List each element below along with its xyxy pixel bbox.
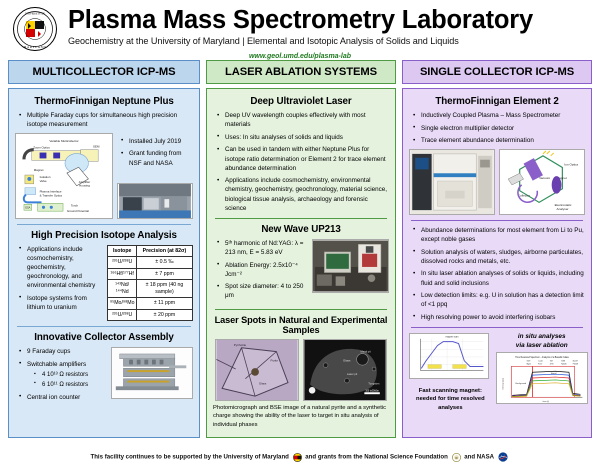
svg-text:Mg25: Mg25 [526, 364, 531, 366]
table-row: ²³⁵U/²³⁸U± 20 ppm [108, 309, 193, 321]
svg-text:Zr90: Zr90 [549, 363, 553, 366]
svg-text:Magnet: Magnet [34, 168, 44, 172]
up213-laser-system-photo [312, 239, 389, 293]
list-item: 9 Faraday cups [18, 347, 107, 356]
list-item: Trace element abundance determination [412, 136, 585, 145]
collector-bullets: 9 Faraday cups Switchable amplifiers 4 1… [18, 347, 107, 405]
svg-text:Tungsten: Tungsten [368, 382, 380, 386]
svg-text:Ion Optics: Ion Optics [564, 162, 578, 166]
deep-uv-bullets: Deep UV wavelength couples effectively w… [216, 111, 389, 213]
bse-image-synthetic-charge: Glass Metal pit Laser pit Tungsten 100 \… [303, 339, 387, 401]
svg-text:SEM: SEM [93, 144, 100, 148]
list-item: Inductively Coupled Plasma – Mass Spectr… [412, 111, 585, 120]
list-item: Abundance determinations for most elemen… [412, 226, 585, 244]
photomicrograph-natural-pyrite: Pyrrhotite Pyrite Glass [215, 339, 299, 401]
svg-text:N: N [455, 455, 457, 459]
neptune-side-bullets: Installed July 2019 Grant funding from N… [120, 137, 193, 171]
neptune-bullets: Multiple Faraday cups for simultaneous h… [18, 111, 193, 129]
svg-text:ESA: ESA [25, 206, 30, 209]
list-item: Isotope systems from lithium to uranium [18, 294, 103, 312]
svg-text:Si29: Si29 [526, 361, 530, 363]
section-title-element2: ThermoFinnigan Element 2 [409, 96, 585, 107]
magnet-chart-caption: Fast scanning magnet: needed for time re… [409, 387, 492, 412]
page-subtitle: Geochemistry at the University of Maryla… [68, 36, 533, 46]
section-title-precision: High Precision Isotope Analysis [15, 230, 193, 241]
svg-text:Ground Potential: Ground Potential [67, 209, 89, 213]
svg-text:Background: Background [515, 383, 526, 385]
list-item: 5ᵗʰ harmonic of Nd:YAG: λ = 213 nm, E = … [216, 239, 308, 257]
svg-text:& Transfer Optics: & Transfer Optics [40, 193, 63, 197]
precision-bullets: Applications include cosmochemistry, geo… [18, 245, 103, 322]
svg-text:Housing: Housing [79, 183, 90, 187]
svg-text:100 \u00b5m: 100 \u00b5m [365, 390, 379, 392]
table-row: ¹⁶⁶Hf/¹⁷⁷Hf± 7 ppm [108, 268, 193, 280]
list-item: Single electron multiplier detector [412, 124, 585, 133]
svg-text:Analyser: Analyser [557, 207, 569, 211]
column-header: Isotope [108, 245, 136, 257]
list-item: Grant funding from NSF and NASA [120, 149, 193, 167]
element2-capability-bullets: Abundance determinations for most elemen… [412, 226, 585, 322]
university-of-maryland-seal: UNIVERSITY OF MARYLAND [12, 6, 58, 52]
svg-text:Glass: Glass [259, 382, 267, 386]
svg-text:Sr88: Sr88 [561, 360, 565, 363]
svg-text:magnet scan: magnet scan [445, 335, 459, 338]
collector-assembly-photo [111, 347, 193, 399]
poster-header: UNIVERSITY OF MARYLAND Plasma Mass Spect… [0, 0, 600, 52]
column-heading-single: SINGLE COLLECTOR ICP-MS [402, 60, 592, 84]
list-item: In situ laser ablation analyses of solid… [412, 269, 585, 287]
list-item: Can be used in tandem with either Neptun… [216, 145, 389, 172]
poster-columns: MULTICOLLECTOR ICP-MS ThermoFinnigan Nep… [0, 60, 600, 438]
list-item: Uses: In situ analyses of solids and liq… [216, 133, 389, 142]
footer-text-1: This facility continues to be supported … [90, 454, 288, 461]
time-resolved-spectrum-chart: Time Resolved Spectrum - Analysis of a B… [496, 352, 588, 404]
section-title-laser-spots: Laser Spots in Natural and Experimental … [213, 315, 389, 335]
list-item: Switchable amplifiers 4 10¹³ Ω resistors… [18, 360, 107, 389]
list-item: Central ion counter [18, 393, 107, 402]
column-laser-ablation: LASER ABLATION SYSTEMS Deep Ultraviolet … [206, 60, 396, 438]
list-item-label: Switchable amplifiers [27, 361, 86, 368]
svg-text:Nd146: Nd146 [561, 364, 566, 366]
list-item: 6 10¹¹ Ω resistors [34, 381, 107, 389]
svg-text:Ba137: Ba137 [572, 361, 577, 363]
svg-text:Pyrrhotite: Pyrrhotite [234, 343, 247, 347]
svg-text:Pb208: Pb208 [572, 364, 577, 366]
column-single-collector: SINGLE COLLECTOR ICP-MS ThermoFinnigan E… [402, 60, 592, 438]
element2-bullets: Inductively Coupled Plasma – Mass Spectr… [412, 111, 585, 145]
poster-footer: This facility continues to be supported … [0, 452, 600, 462]
laser-spots-caption: Photomicrograph and BSE image of a natur… [213, 404, 389, 429]
svg-text:Valve: Valve [40, 179, 47, 183]
svg-text:Fe57: Fe57 [538, 364, 542, 366]
resistor-sub-bullets: 4 10¹³ Ω resistors 6 10¹¹ Ω resistors [34, 371, 107, 389]
section-title-collector: Innovative Collector Assembly [15, 332, 193, 343]
fast-scanning-magnet-chart: magnet scan [409, 333, 489, 379]
svg-text:Variable Multicollector: Variable Multicollector [49, 139, 78, 143]
neptune-instrument-photo [117, 183, 193, 219]
table-row: ¹⁴³Nd/¹⁴⁴Nd± 18 ppm (40 ng sample) [108, 280, 193, 298]
section-title-neptune: ThermoFinnigan Neptune Plus [15, 96, 193, 107]
nasa-logo-icon [498, 452, 508, 462]
svg-text:Laser pit: Laser pit [347, 372, 358, 376]
neptune-schematic-diagram: Variable Multicollector Zoom Optics SEM … [15, 133, 113, 219]
list-item: 4 10¹³ Ω resistors [34, 371, 107, 379]
svg-text:Intensity (cps): Intensity (cps) [501, 378, 504, 390]
list-item: Installed July 2019 [120, 137, 193, 146]
list-item: Spot size diameter: 4 to 250 μm [216, 282, 308, 300]
list-item: Ablation Energy: 2.5x10⁻⁴ Jcm⁻² [216, 261, 308, 279]
table-row: ²³⁵U/²³⁸U± 0.5 ‰ [108, 257, 193, 269]
list-item: Deep UV wavelength couples effectively w… [216, 111, 389, 129]
svg-text:UNIVERSITY OF: UNIVERSITY OF [25, 13, 45, 16]
svg-text:Torch: Torch [71, 203, 79, 207]
isotope-precision-table: Isotope Precision (at 82σ) ²³⁵U/²³⁸U± 0.… [107, 245, 193, 322]
svg-text:Pyrite: Pyrite [271, 358, 279, 362]
column-header: Precision (at 82σ) [136, 245, 192, 257]
up213-spec-bullets: 5ᵗʰ harmonic of Nd:YAG: λ = 213 nm, E = … [216, 239, 308, 304]
column-heading-multicollector: MULTICOLLECTOR ICP-MS [8, 60, 200, 84]
svg-text:time (s): time (s) [542, 400, 549, 403]
svg-text:Zoom Optics: Zoom Optics [33, 145, 50, 149]
svg-text:MARYLAND: MARYLAND [24, 45, 47, 49]
column-heading-laser: LASER ABLATION SYSTEMS [206, 60, 396, 84]
svg-text:Time Resolved Spectrum - Analy: Time Resolved Spectrum - Analysis of a B… [515, 356, 569, 359]
lab-url[interactable]: www.geol.umd.edu/plasma-lab [0, 53, 600, 60]
svg-text:Vacuum: Vacuum [539, 176, 551, 180]
svg-text:Ca44: Ca44 [538, 361, 542, 363]
nsf-logo-icon: N [452, 453, 461, 462]
svg-text:Glass: Glass [343, 358, 351, 362]
list-item: Solution analysis of waters, sludges, ai… [412, 248, 585, 266]
table-header-row: Isotope Precision (at 82σ) [108, 245, 193, 257]
list-item: Applications include cosmochemistry, geo… [18, 245, 103, 291]
page-title: Plasma Mass Spectrometry Laboratory [68, 7, 533, 33]
list-item: High resolving power to avoid interferin… [412, 313, 585, 322]
table-row: ⁹⁵Mo/⁹⁸Mo± 11 ppm [108, 298, 193, 310]
element-2-schematic-diagram: Ion Optics Vacuum Magnet Collector Elect… [499, 149, 585, 215]
element-2-instrument-photo [409, 149, 495, 215]
laser-ablation-chart-title: in situ analyses via laser ablation [496, 333, 588, 350]
section-title-up213: New Wave UP213 [213, 224, 389, 235]
svg-text:Ti47: Ti47 [549, 361, 552, 363]
umd-seal-icon [293, 453, 302, 462]
svg-text:Metal pit: Metal pit [360, 350, 370, 354]
section-title-deep-uv: Deep Ultraviolet Laser [213, 96, 389, 107]
footer-text-3: and NASA [464, 454, 494, 461]
footer-text-2: and grants from the National Science Fou… [305, 454, 448, 461]
list-item: Applications include cosmochemistry, env… [216, 176, 389, 213]
list-item: Multiple Faraday cups for simultaneous h… [18, 111, 193, 129]
column-multicollector: MULTICOLLECTOR ICP-MS ThermoFinnigan Nep… [8, 60, 200, 438]
list-item: Low detection limits: e.g. U in solution… [412, 291, 585, 309]
